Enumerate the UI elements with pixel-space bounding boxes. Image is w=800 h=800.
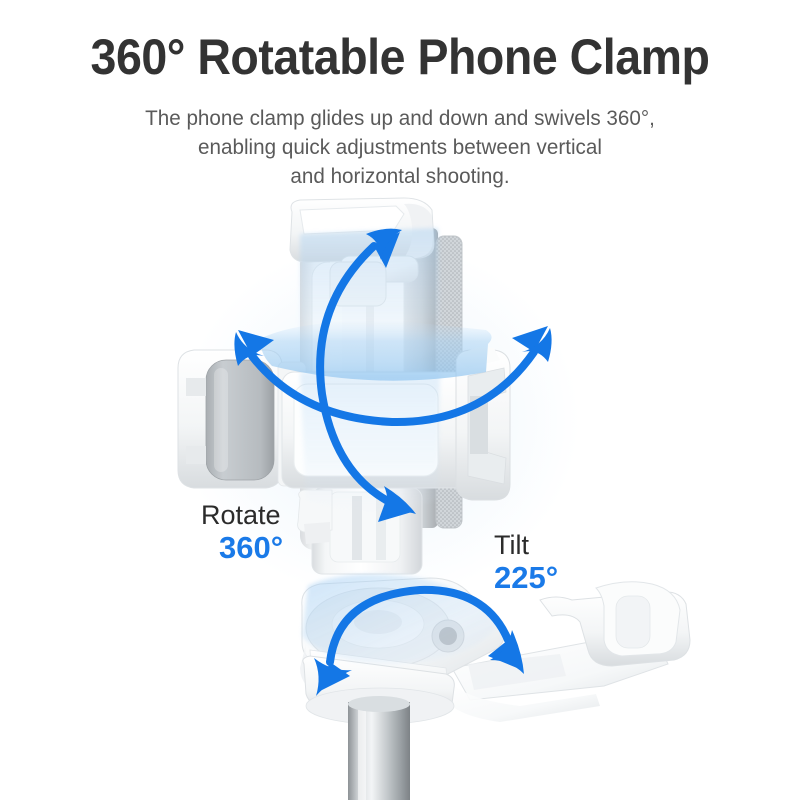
callout-tilt-value: 225° xyxy=(494,560,558,596)
callout-rotate: Rotate 360° xyxy=(201,500,283,566)
product-illustration xyxy=(0,0,800,800)
tripod-pole xyxy=(348,696,410,800)
callout-rotate-value: 360° xyxy=(201,530,283,566)
callout-tilt-label: Tilt xyxy=(494,530,558,560)
callout-tilt: Tilt 225° xyxy=(494,530,558,596)
product-feature-graphic: 360° Rotatable Phone Clamp The phone cla… xyxy=(0,0,800,800)
callout-rotate-label: Rotate xyxy=(201,500,283,530)
